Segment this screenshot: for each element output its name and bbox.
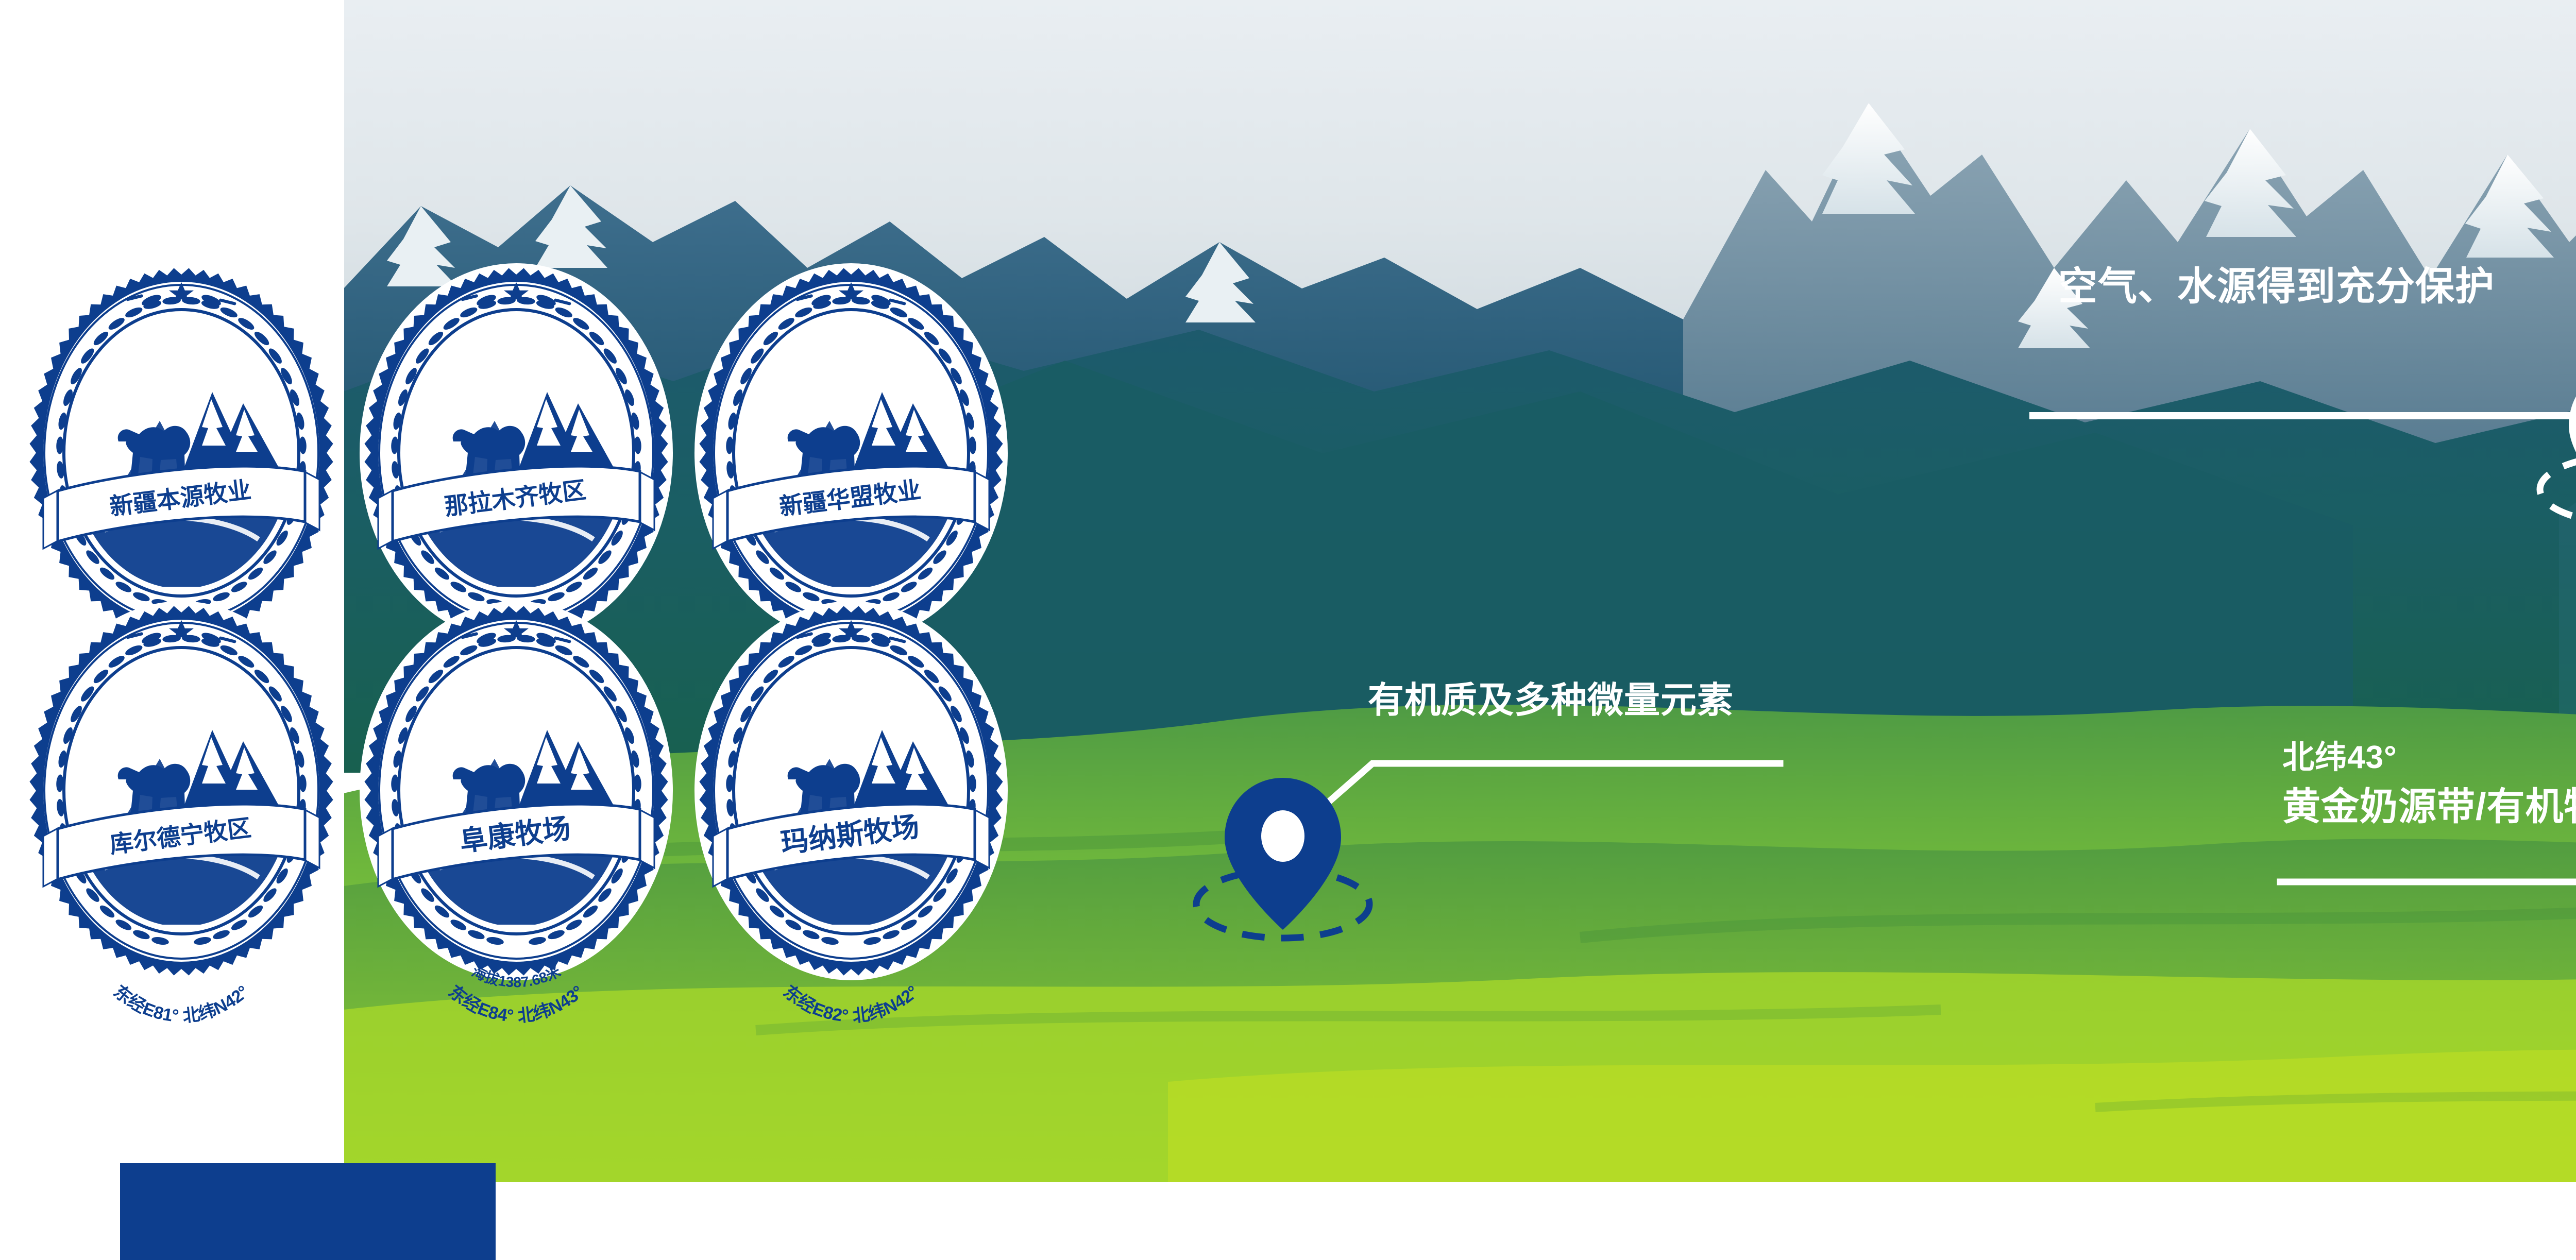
badge-seal-graphic: 库尔德宁牧区 东经E81° 北纬N42° xyxy=(26,605,337,976)
annotation-organic-label: 有机质及多种微量元素 xyxy=(1368,677,1734,724)
annotation-air-water-pin[interactable] xyxy=(2519,335,2576,541)
bottom-left-blue-block xyxy=(120,1163,496,1260)
annotation-air-water-leader xyxy=(2030,327,2576,497)
badge-seal-graphic: 玛纳斯牧场 东经E82° 北纬N42° xyxy=(696,605,1007,976)
badge-seal-5[interactable]: 阜康牧场 海拔1387.68米 东经E84° 北纬N43° xyxy=(361,605,672,976)
banner-stage: 新疆本源牧业 东经E81° 北纬N42° xyxy=(0,0,2576,1260)
badge-seal-graphic: 阜康牧场 海拔1387.68米 东经E84° 北纬N43° xyxy=(361,605,672,976)
badge-seal-3[interactable]: 新疆华盟牧业 东经E82° 北纬N42° xyxy=(696,267,1007,638)
badge-seal-graphic: 那拉木齐牧区 海拔1387.68米 东经E84° 北纬N43° xyxy=(361,267,672,638)
annotation-golden-belt-leader xyxy=(2277,840,2576,1010)
map-pin-icon xyxy=(1177,750,1394,956)
annotation-air-water-label: 空气、水源得到充分保护 xyxy=(2058,262,2495,312)
map-pin-icon xyxy=(2519,335,2576,541)
badge-seal-graphic: 新疆本源牧业 东经E81° 北纬N42° xyxy=(26,267,337,638)
annotation-latitude-label: 北纬43° xyxy=(2282,737,2397,779)
badge-seal-graphic: 新疆华盟牧业 东经E82° 北纬N42° xyxy=(696,267,1007,638)
badge-grid: 新疆本源牧业 东经E81° 北纬N42° xyxy=(0,0,1133,927)
badge-seal-1[interactable]: 新疆本源牧业 东经E81° 北纬N42° xyxy=(26,267,337,638)
dashed-orbit-icon xyxy=(2540,455,2576,523)
annotation-golden-belt-label: 黄金奶源带/有机牧场 xyxy=(2282,783,2576,831)
badge-seal-2[interactable]: 那拉木齐牧区 海拔1387.68米 东经E84° 北纬N43° xyxy=(361,267,672,638)
badge-seal-6[interactable]: 玛纳斯牧场 东经E82° 北纬N42° xyxy=(696,605,1007,976)
annotation-organic-pin[interactable] xyxy=(1177,750,1394,956)
badge-seal-4[interactable]: 库尔德宁牧区 东经E81° 北纬N42° xyxy=(26,605,337,976)
